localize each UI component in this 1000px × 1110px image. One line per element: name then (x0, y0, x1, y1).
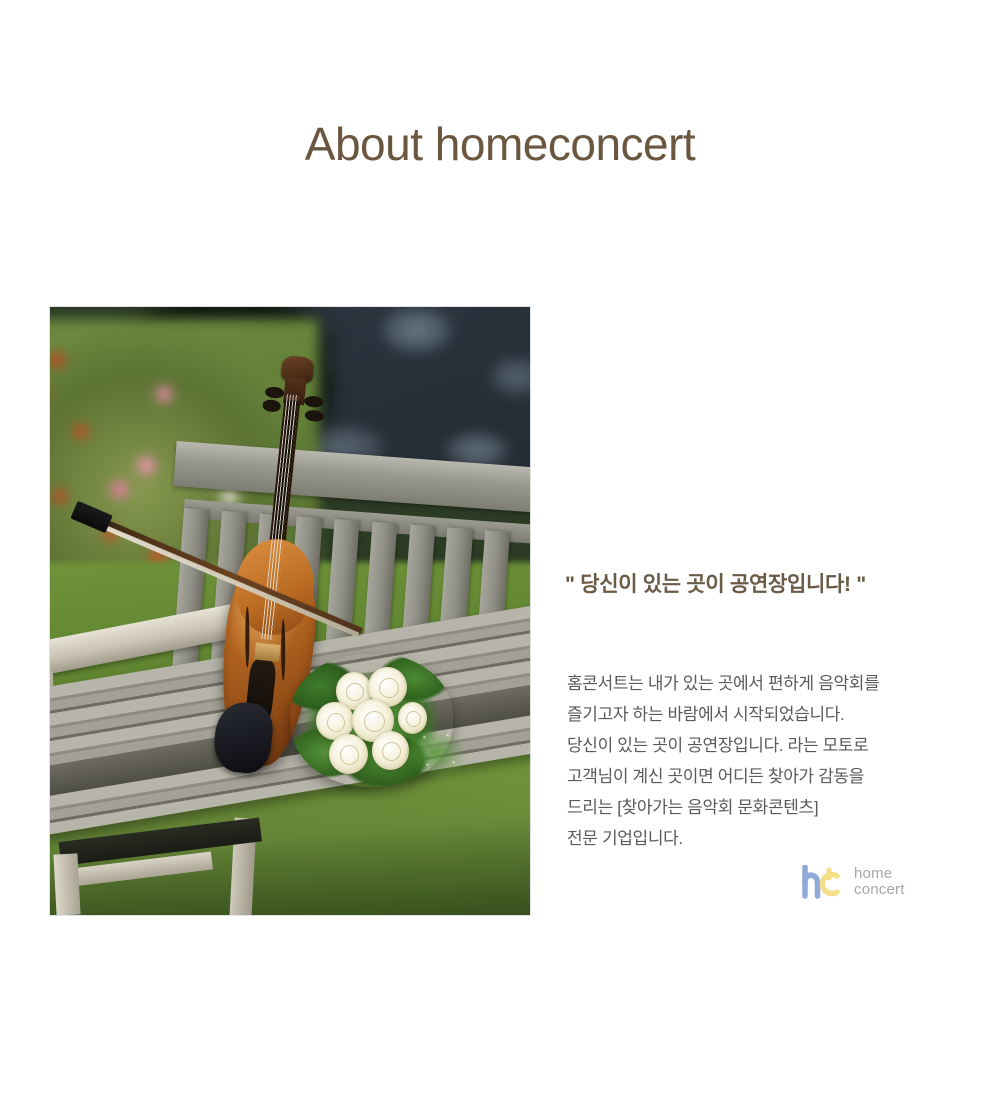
body-line: 전문 기업입니다. (567, 823, 977, 854)
tagline: " 당신이 있는 곳이 공연장입니다! " (565, 568, 985, 598)
photo-scene (50, 307, 530, 915)
brand-word-concert: concert (854, 882, 905, 898)
hero-photo (50, 307, 530, 915)
violin-f-hole (245, 606, 249, 667)
rose-bouquet (290, 654, 453, 788)
violin-bridge (254, 642, 280, 662)
homeconcert-logo: home concert (800, 858, 930, 906)
body-copy: 홈콘서트는 내가 있는 곳에서 편하게 음악회를 즐기고자 하는 바람에서 시작… (567, 668, 977, 854)
body-line: 홈콘서트는 내가 있는 곳에서 편하게 음악회를 (567, 668, 977, 699)
violin-peg (304, 409, 324, 422)
body-line: 당신이 있는 곳이 공연장입니다. 라는 모토로 (567, 730, 977, 761)
body-line: 고객님이 계신 곳이면 어디든 찾아가 감동을 (567, 761, 977, 792)
brand-word-home: home (854, 866, 905, 882)
bench-foot (53, 854, 80, 915)
body-line: 드리는 [찾아가는 음악회 문화콘텐츠] (567, 792, 977, 823)
page-title: About homeconcert (0, 118, 1000, 171)
brand-wordmark: home concert (854, 866, 905, 898)
white-rose (329, 734, 368, 774)
body-line: 즐기고자 하는 바람에서 시작되었습니다. (567, 699, 977, 730)
violin-peg (264, 386, 284, 399)
hc-monogram-icon (800, 865, 846, 899)
violin-peg (304, 395, 324, 408)
violin-peg (262, 399, 282, 412)
